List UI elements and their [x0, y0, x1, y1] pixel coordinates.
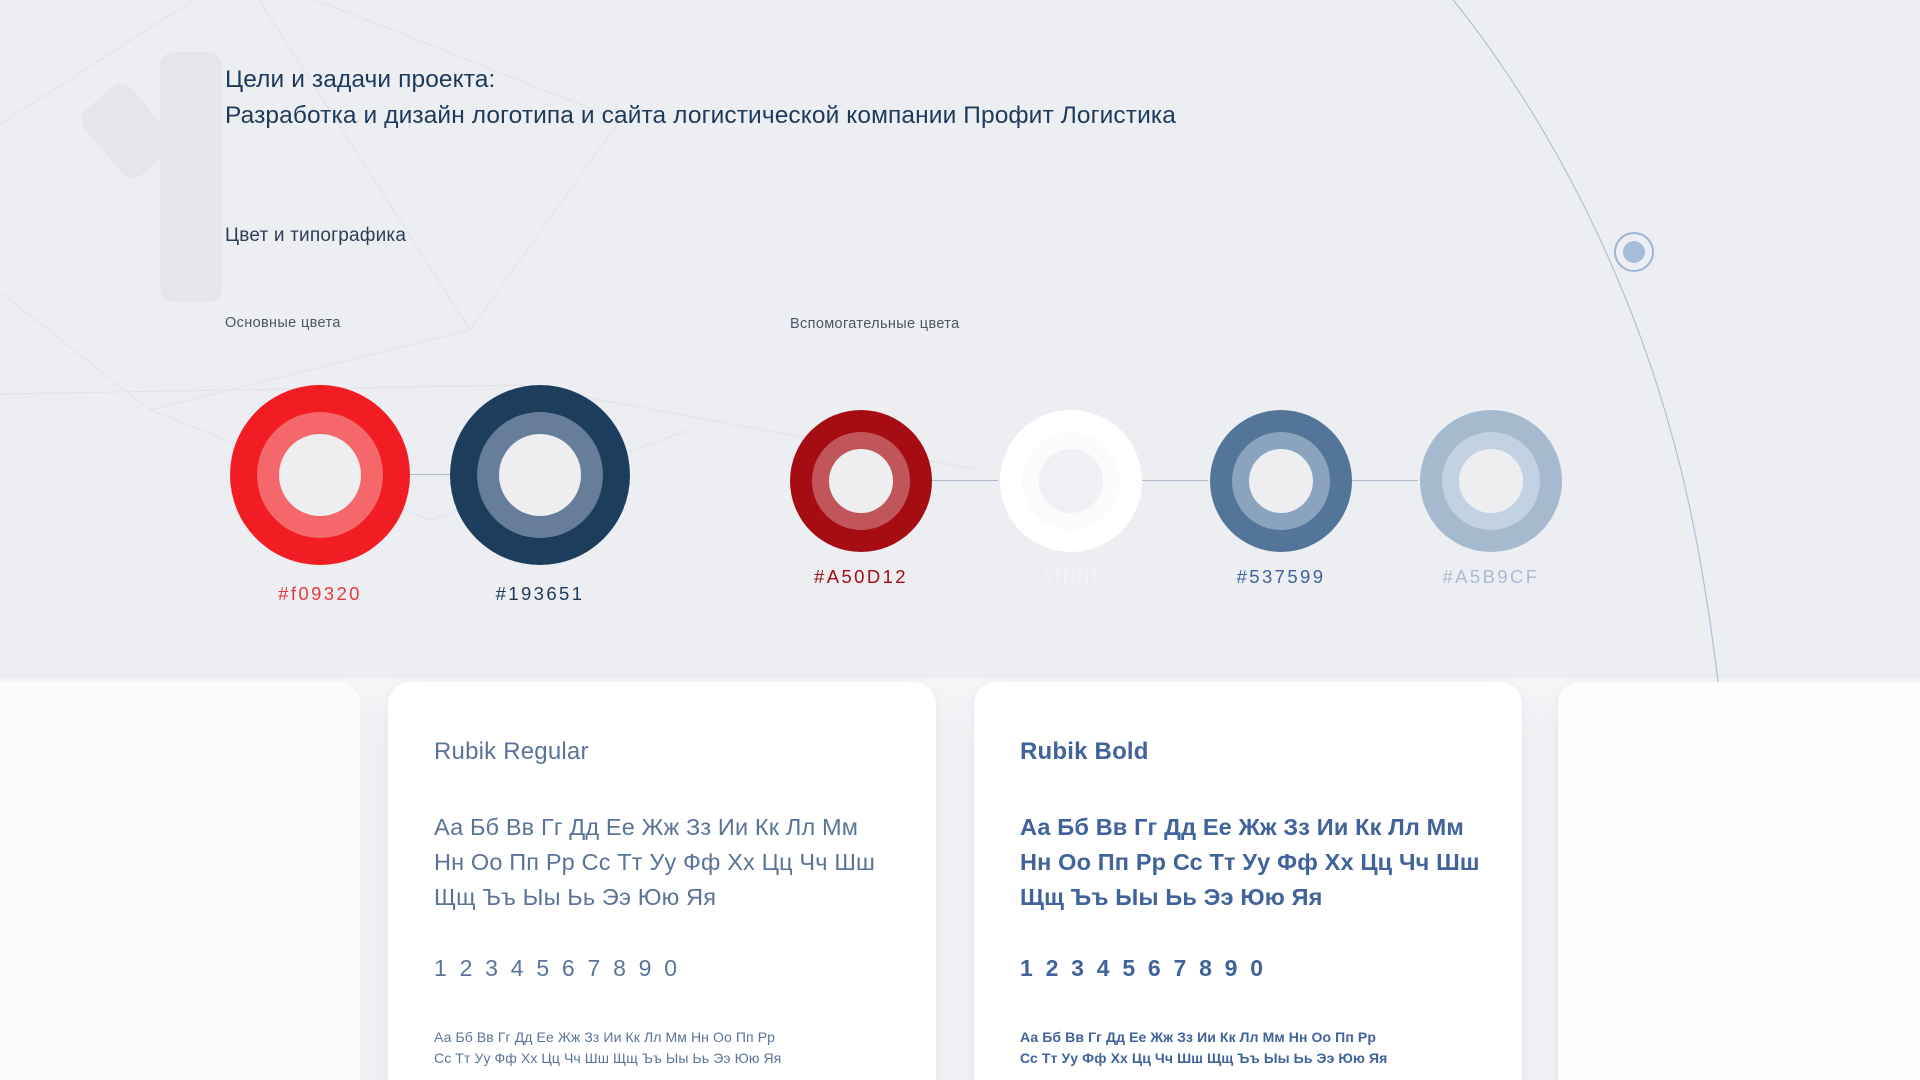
swatch-hex-secondary-0: #A50D12	[741, 566, 981, 588]
alphabet-big-line-2: Нн Оо Пп Рр Сс Тт Уу Фф Хх Цц Чч Шш	[1020, 845, 1492, 880]
swatch-secondary-1[interactable]	[1000, 410, 1142, 552]
swatch-ring-hole	[499, 434, 581, 516]
swatch-connector-secondary-0	[930, 480, 998, 481]
swatch-ring-hole	[1249, 449, 1313, 513]
alphabet-big-line-3: Щщ Ъъ Ыы Ьь Ээ Юю Яя	[1020, 880, 1492, 915]
alphabet-big-line-1: Аа Бб Вв Гг Дд Ее Жж Зз Ии Кк Лл Мм	[434, 810, 906, 845]
type-card-regular[interactable]: Rubik Regular Аа Бб Вв Гг Дд Ее Жж Зз Ии…	[388, 682, 936, 1080]
swatch-ring-hole	[279, 434, 361, 516]
digits-line: 1 2 3 4 5 6 7 8 9 0	[434, 955, 906, 982]
type-card-content: Rubik Regular Аа Бб Вв Гг Дд Ее Жж Зз Ии…	[434, 738, 906, 1069]
alphabet-small-line-1: Аа Бб Вв Гг Дд Ее Жж Зз Ии Кк Лл Мм Нн О…	[434, 1027, 906, 1048]
digits-line: 1 2 3 4 5 6 7 8 9 0	[1020, 955, 1492, 982]
section-title: Цвет и типографика	[225, 225, 406, 247]
swatch-hex-secondary-3: #A5B9CF	[1371, 566, 1611, 588]
headline-line-1: Цели и задачи проекта:	[225, 62, 1345, 98]
swatch-connector-secondary-1	[1140, 480, 1208, 481]
swatch-hex-secondary-1: #ffffff	[951, 566, 1191, 588]
alphabet-big-line-1: Аа Бб Вв Гг Дд Ее Жж Зз Ии Кк Лл Мм	[1020, 810, 1492, 845]
swatch-ring-hole	[1039, 449, 1103, 513]
type-card-bold[interactable]: Rubik Bold Аа Бб Вв Гг Дд Ее Жж Зз Ии Кк…	[974, 682, 1522, 1080]
font-name-label: Rubik Regular	[434, 738, 906, 766]
arc-node-dot	[1614, 232, 1654, 272]
swatch-primary-1[interactable]	[450, 385, 630, 565]
alphabet-big-line-3: Щщ Ъъ Ыы Ьь Ээ Юю Яя	[434, 880, 906, 915]
alphabet-big-line-2: Нн Оо Пп Рр Сс Тт Уу Фф Хх Цц Чч Шш	[434, 845, 906, 880]
type-card-partial-left	[0, 682, 360, 1080]
swatch-connector-secondary-2	[1350, 480, 1418, 481]
swatch-ring-hole	[829, 449, 893, 513]
swatch-primary-0[interactable]	[230, 385, 410, 565]
headline-block: Цели и задачи проекта: Разработка и диза…	[225, 62, 1345, 134]
alphabet-small-line-2: Сс Тт Уу Фф Хх Цц Чч Шш Щщ Ъъ Ыы Ьь Ээ Ю…	[1020, 1048, 1492, 1069]
type-card-partial-right	[1558, 682, 1920, 1080]
alphabet-small-line-1: Аа Бб Вв Гг Дд Ее Жж Зз Ии Кк Лл Мм Нн О…	[1020, 1027, 1492, 1048]
slide-canvas: Цели и задачи проекта: Разработка и диза…	[0, 0, 1920, 1080]
swatch-hex-primary-1: #193651	[400, 583, 680, 605]
swatch-hex-secondary-2: #537599	[1161, 566, 1401, 588]
swatch-secondary-0[interactable]	[790, 410, 932, 552]
swatch-secondary-2[interactable]	[1210, 410, 1352, 552]
swatch-ring-hole	[1459, 449, 1523, 513]
alphabet-small-line-2: Сс Тт Уу Фф Хх Цц Чч Шш Щщ Ъъ Ыы Ьь Ээ Ю…	[434, 1048, 906, 1069]
swatch-secondary-3[interactable]	[1420, 410, 1562, 552]
type-card-content: Rubik Bold Аа Бб Вв Гг Дд Ее Жж Зз Ии Кк…	[1020, 738, 1492, 1069]
headline-line-2: Разработка и дизайн логотипа и сайта лог…	[225, 98, 1345, 134]
secondary-colors-label: Вспомогательные цвета	[790, 316, 960, 332]
primary-colors-label: Основные цвета	[225, 315, 341, 331]
font-name-label: Rubik Bold	[1020, 738, 1492, 766]
